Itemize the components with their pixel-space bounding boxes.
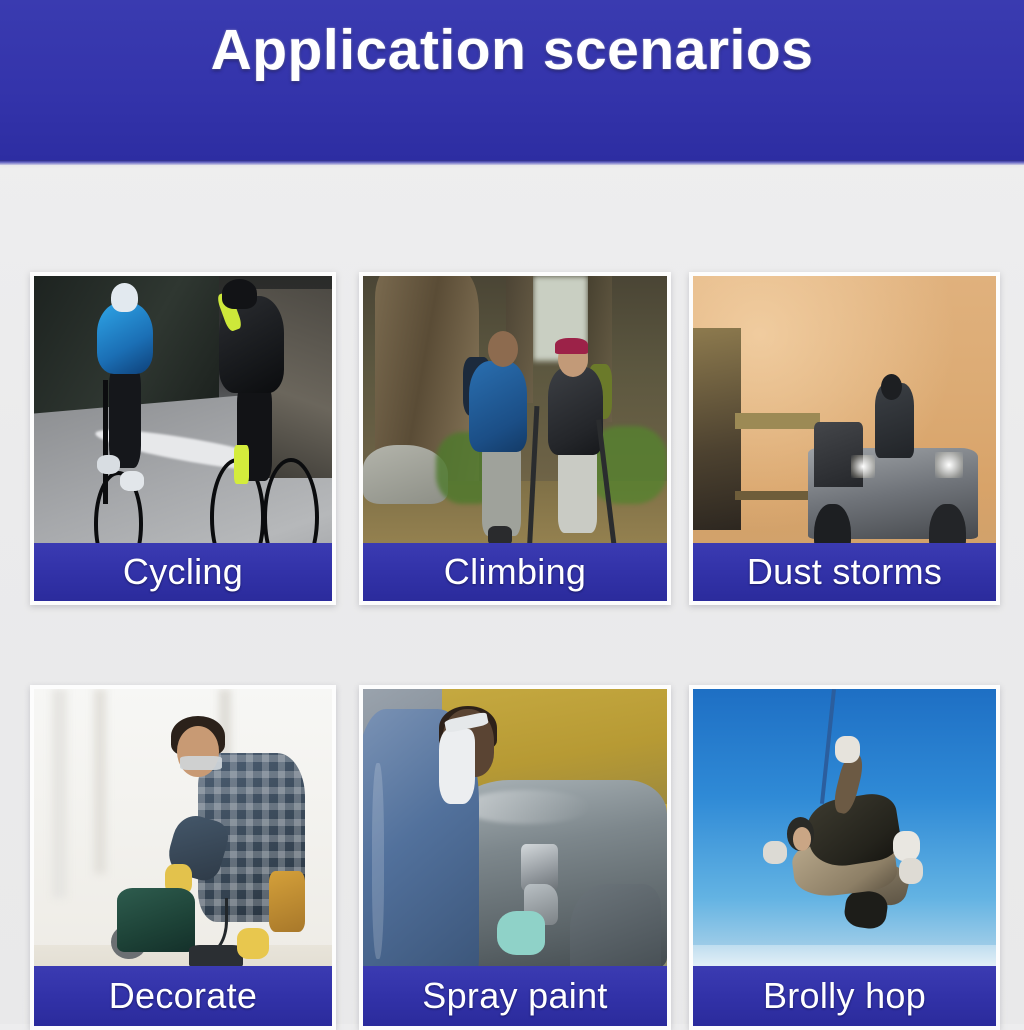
photo-layer-boot — [893, 831, 920, 861]
scenario-card-climbing[interactable]: Climbing — [359, 272, 671, 605]
card-caption-spray-paint: Spray paint — [363, 966, 667, 1026]
photo-layer-tool-belt — [269, 871, 305, 932]
photo-layer-fabric-fold — [372, 763, 384, 958]
photo-layer-respirator-mask — [439, 729, 475, 803]
photo-layer-headlight — [851, 455, 875, 478]
photo-layer-circular-saw — [117, 888, 194, 952]
page-title: Application scenarios — [0, 17, 1024, 83]
photo-layer-safety-glasses — [180, 756, 222, 769]
card-caption-decorate: Decorate — [34, 966, 332, 1026]
photo-layer-hiker-torso — [548, 367, 603, 455]
scenario-card-spray-paint[interactable]: Spray paint — [359, 685, 671, 1030]
photo-layer-face — [793, 827, 811, 851]
photo-layer-car-highlight — [463, 790, 591, 824]
photo-layer-hand — [763, 841, 787, 865]
card-photo-wrap: Climbing — [363, 276, 667, 601]
card-photo-wrap: Decorate — [34, 689, 332, 1026]
card-caption-brolly-hop: Brolly hop — [693, 966, 996, 1026]
card-caption-dust-storms: Dust storms — [693, 543, 996, 601]
photo-layer-boom-arm — [735, 413, 820, 429]
photo-layer-background-blur — [94, 689, 106, 874]
photo-layer-hiker-head — [488, 331, 518, 367]
card-caption-climbing: Climbing — [363, 543, 667, 601]
photo-layer-rider-shoe — [97, 455, 121, 475]
scenario-card-cycling[interactable]: Cycling — [30, 272, 336, 605]
photo-layer-machinery — [693, 328, 741, 530]
card-photo-wrap: Brolly hop — [693, 689, 996, 1026]
scenario-card-brolly-hop[interactable]: Brolly hop — [689, 685, 1000, 1030]
photo-layer-hiker-legs — [482, 439, 522, 537]
card-photo-wrap: Cycling — [34, 276, 332, 601]
photo-layer-boot — [899, 858, 923, 885]
photo-layer-rider-helmet — [111, 283, 138, 312]
header-divider — [0, 160, 1024, 165]
scenario-card-dust-storms[interactable]: Dust storms — [689, 272, 1000, 605]
photo-layer-hiker-legs — [558, 442, 598, 533]
photo-layer-rider-helmet — [222, 279, 258, 308]
photo-layer-rider-torso — [97, 302, 154, 374]
photo-layer-rider-shoe — [120, 471, 144, 491]
photo-layer-bike-frame — [103, 380, 109, 504]
photo-layer-rider-legs — [109, 364, 142, 468]
photo-layer-work-glove — [237, 928, 270, 958]
photo-layer-headlight — [935, 452, 962, 478]
photo-layer-nitrile-glove — [497, 911, 546, 955]
photo-layer-headband — [555, 338, 588, 354]
scenario-card-decorate[interactable]: Decorate — [30, 685, 336, 1030]
card-photo-wrap: Spray paint — [363, 689, 667, 1026]
application-scenarios-page: Application scenarios — [0, 0, 1024, 1024]
card-photo-wrap: Dust storms — [693, 276, 996, 601]
photo-layer-bottle — [234, 445, 249, 484]
photo-layer-worker-head — [881, 374, 902, 400]
card-caption-cycling: Cycling — [34, 543, 332, 601]
photo-layer-raised-hand — [835, 736, 859, 763]
photo-layer-background-blur — [52, 689, 67, 898]
photo-layer-hiker-torso — [469, 361, 527, 452]
scenario-grid: Cycling — [0, 166, 1024, 1024]
header-band: Application scenarios — [0, 0, 1024, 160]
photo-layer-drogue-line — [820, 689, 836, 803]
